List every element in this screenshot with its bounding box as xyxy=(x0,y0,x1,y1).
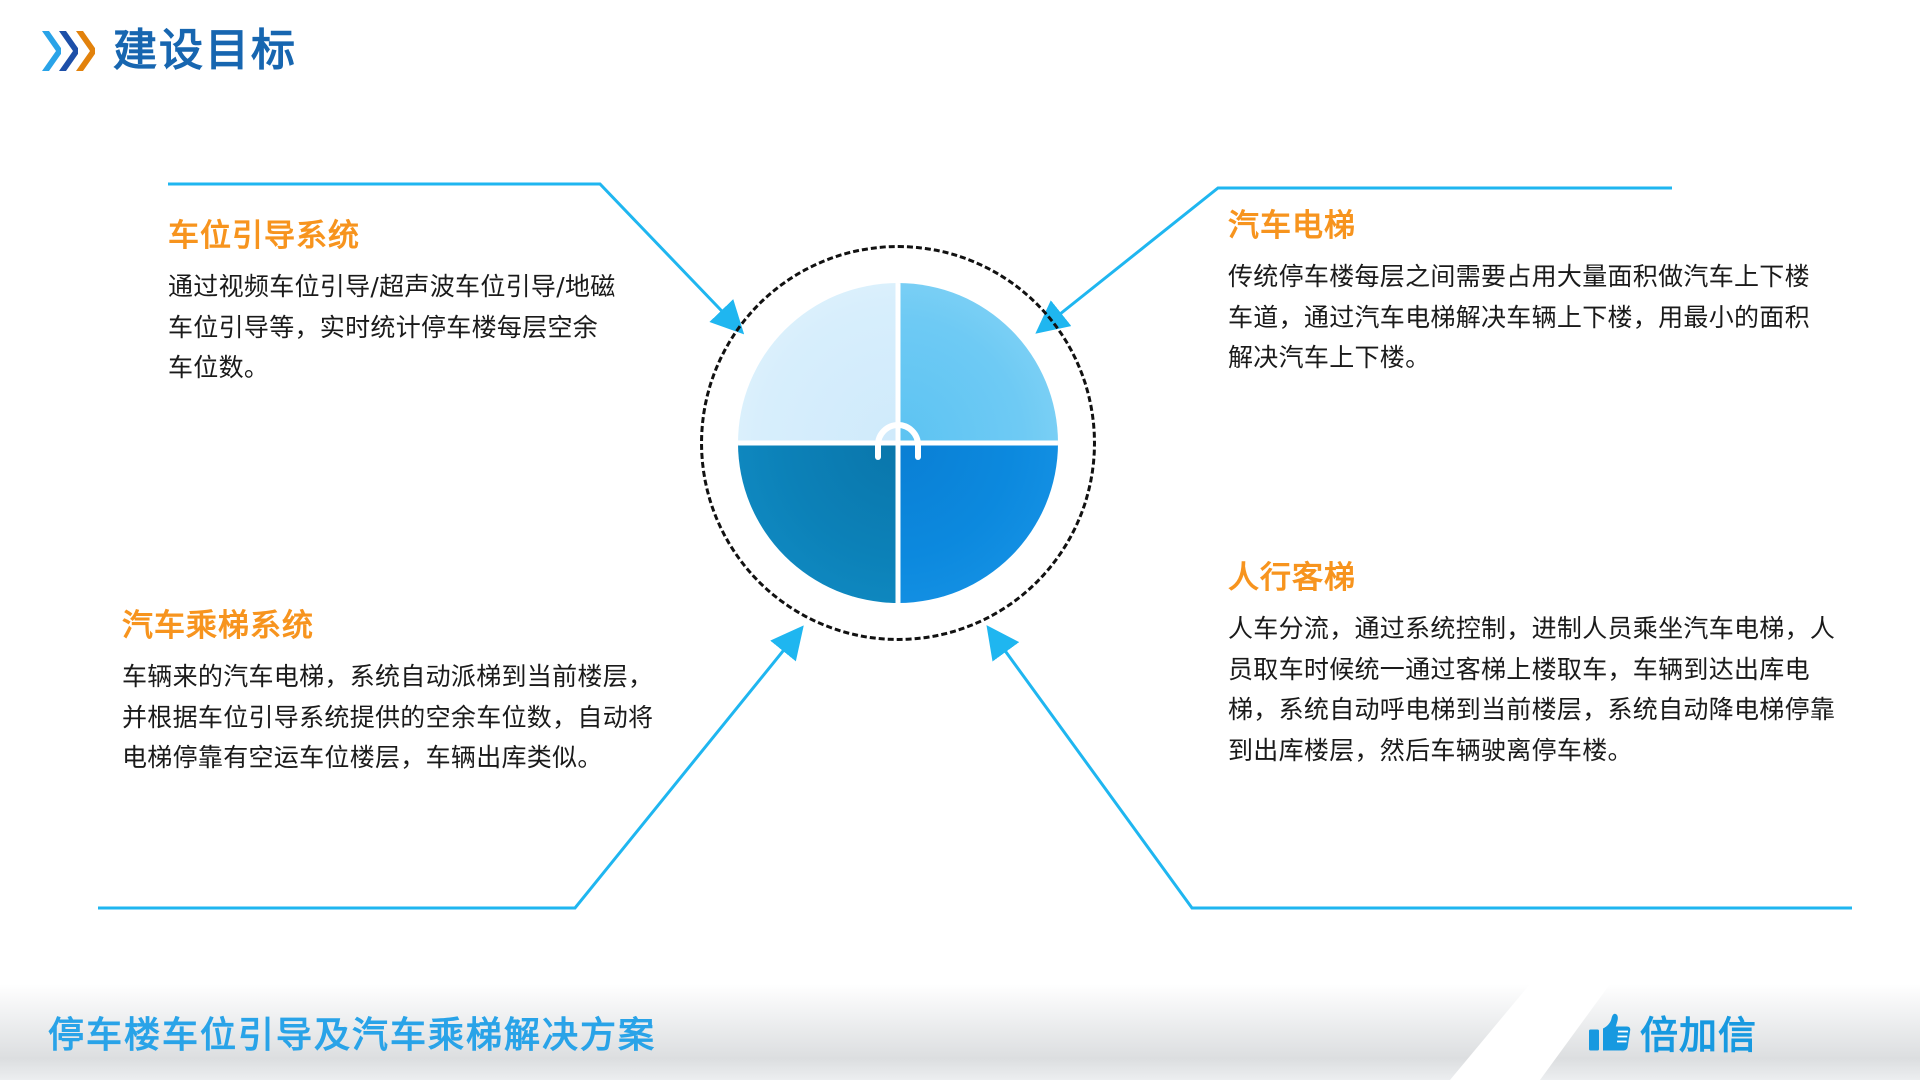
page-title-row: 建设目标 xyxy=(40,28,297,74)
block-car-riding-system: 汽车乘梯系统 车辆来的汽车电梯，系统自动派梯到当前楼层，并根据车位引导系统提供的… xyxy=(122,608,662,779)
brand-lockup[interactable]: 倍加信 xyxy=(1588,1005,1757,1060)
block-body: 通过视频车位引导/超声波车位引导/地磁车位引导等，实时统计停车楼每层空余车位数。 xyxy=(168,267,622,389)
chevron-group-icon xyxy=(40,28,91,74)
footer-title: 停车楼车位引导及汽车乘梯解决方案 xyxy=(48,1006,656,1058)
block-heading: 车位引导系统 xyxy=(168,218,622,255)
footer: 停车楼车位引导及汽车乘梯解决方案 倍加信 xyxy=(0,984,1920,1080)
quadrant-pie xyxy=(738,283,1058,603)
block-passenger-elevator: 人行客梯 人车分流，通过系统控制，进制人员乘坐汽车电梯，人员取车时候统一通过客梯… xyxy=(1228,560,1838,771)
block-heading: 人行客梯 xyxy=(1228,560,1838,597)
center-diagram xyxy=(700,245,1100,645)
block-car-elevator: 汽车电梯 传统停车楼每层之间需要占用大量面积做汽车上下楼车道，通过汽车电梯解决车… xyxy=(1228,208,1828,379)
block-body: 传统停车楼每层之间需要占用大量面积做汽车上下楼车道，通过汽车电梯解决车辆上下楼，… xyxy=(1228,257,1828,379)
chevron-right-icon-3 xyxy=(74,28,95,74)
block-heading: 汽车乘梯系统 xyxy=(122,608,662,645)
block-body: 人车分流，通过系统控制，进制人员乘坐汽车电梯，人员取车时候统一通过客梯上楼取车，… xyxy=(1228,609,1838,771)
brand-name: 倍加信 xyxy=(1640,1005,1757,1060)
block-heading: 汽车电梯 xyxy=(1228,208,1828,245)
slide-root: 建设目标 xyxy=(0,0,1920,1080)
thumbs-up-icon xyxy=(1588,1011,1632,1053)
page-title: 建设目标 xyxy=(113,29,297,73)
block-body: 车辆来的汽车电梯，系统自动派梯到当前楼层，并根据车位引导系统提供的空余车位数，自… xyxy=(122,657,662,779)
circular-arrows-icon xyxy=(866,411,930,475)
block-parking-guidance: 车位引导系统 通过视频车位引导/超声波车位引导/地磁车位引导等，实时统计停车楼每… xyxy=(152,218,622,389)
